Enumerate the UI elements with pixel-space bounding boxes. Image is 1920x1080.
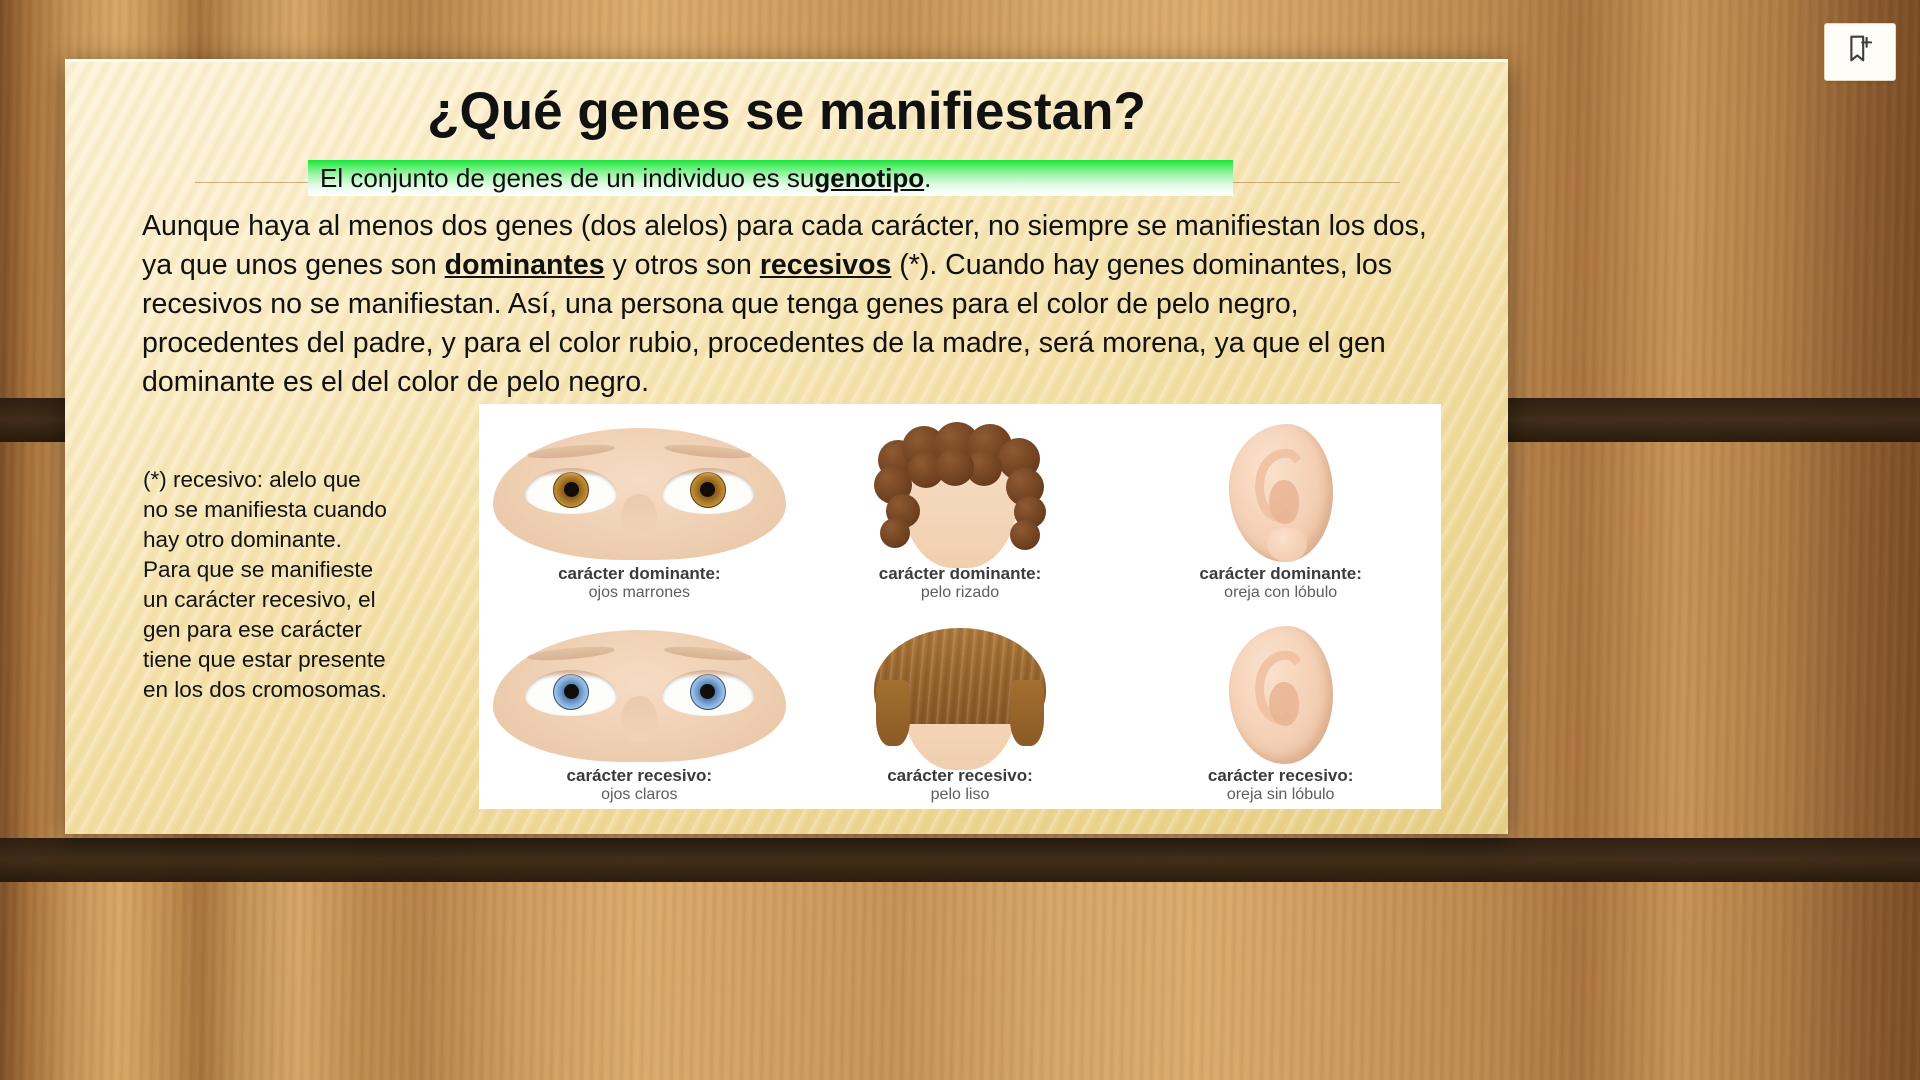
highlight-suffix-text: . (924, 163, 931, 194)
dominantes-keyword: dominantes (445, 249, 605, 281)
footnote-recesivo: (*) recesivo: alelo que no se manifiesta… (143, 465, 388, 705)
figure-caption: carácter recesivo: ojos claros (567, 766, 713, 805)
genotipo-keyword: genotipo (814, 163, 924, 194)
light-eyes-illustration (479, 618, 800, 764)
ear-with-lobe-illustration (1120, 416, 1441, 562)
bookmark-add-icon (1845, 34, 1875, 71)
page-title: ¿Qué genes se manifiestan? (65, 81, 1508, 142)
genetics-traits-figure: carácter dominante: ojos marrones caráct… (479, 404, 1441, 809)
figure-cell-straight-hair: carácter recesivo: pelo liso (800, 607, 1121, 810)
figure-cell-curly-hair: carácter dominante: pelo rizado (800, 404, 1121, 607)
ear-without-lobe-illustration (1120, 618, 1441, 764)
figure-caption: carácter dominante: ojos marrones (558, 564, 721, 603)
caption-title: carácter recesivo: (567, 766, 713, 786)
body-paragraph: Aunque haya al menos dos genes (dos alel… (142, 207, 1457, 402)
highlight-prefix-text: El conjunto de genes de un individuo es … (320, 163, 814, 194)
straight-hair-illustration (800, 618, 1121, 764)
figure-cell-ear-with-lobe: carácter dominante: oreja con lóbulo (1120, 404, 1441, 607)
brown-eyes-illustration (479, 416, 800, 562)
body-text-part2: y otros son (605, 249, 760, 281)
figure-caption: carácter recesivo: oreja sin lóbulo (1208, 766, 1354, 805)
caption-subtitle: ojos marrones (558, 584, 721, 603)
bookmark-button[interactable] (1824, 23, 1896, 81)
caption-title: carácter dominante: (558, 564, 721, 584)
caption-subtitle: pelo rizado (879, 584, 1042, 603)
figure-cell-light-eyes: carácter recesivo: ojos claros (479, 607, 800, 810)
figure-caption: carácter dominante: oreja con lóbulo (1199, 564, 1362, 603)
figure-cell-ear-without-lobe: carácter recesivo: oreja sin lóbulo (1120, 607, 1441, 810)
background-dark-band-bottom (0, 838, 1920, 882)
caption-subtitle: oreja sin lóbulo (1208, 786, 1354, 805)
caption-subtitle: pelo liso (887, 786, 1033, 805)
figure-cell-brown-eyes: carácter dominante: ojos marrones (479, 404, 800, 607)
genotype-highlight-sentence: El conjunto de genes de un individuo es … (308, 160, 1233, 196)
curly-hair-illustration (800, 416, 1121, 562)
presentation-slide: ¿Qué genes se manifiestan? El conjunto d… (65, 59, 1508, 834)
caption-title: carácter dominante: (1199, 564, 1362, 584)
figure-caption: carácter recesivo: pelo liso (887, 766, 1033, 805)
caption-title: carácter recesivo: (1208, 766, 1354, 786)
recesivos-keyword: recesivos (760, 249, 892, 281)
caption-subtitle: oreja con lóbulo (1199, 584, 1362, 603)
figure-caption: carácter dominante: pelo rizado (879, 564, 1042, 603)
caption-subtitle: ojos claros (567, 786, 713, 805)
